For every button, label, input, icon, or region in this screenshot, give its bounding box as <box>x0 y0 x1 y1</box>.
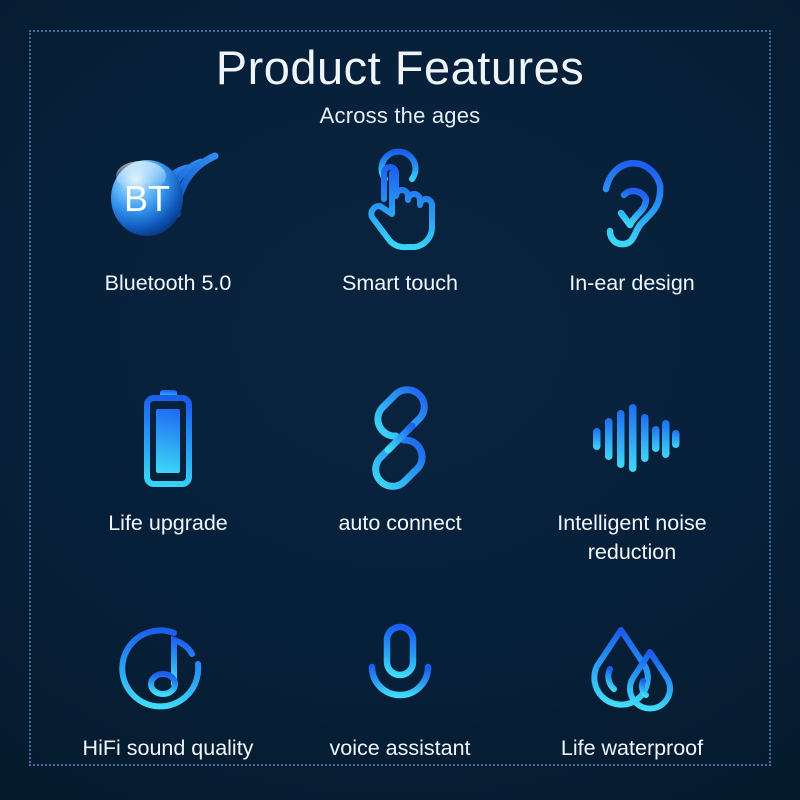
ear-outer-helix <box>606 163 660 244</box>
feature-cell-smart-touch: Smart touch <box>284 140 516 380</box>
feature-label: auto connect <box>338 509 461 538</box>
wave-bar <box>662 420 670 458</box>
wave-bar <box>617 410 625 468</box>
feature-cell-life-waterproof: Life waterproof <box>516 620 748 780</box>
feature-cell-auto-connect: auto connect <box>284 380 516 620</box>
sound-wave-bars-icon <box>589 402 675 474</box>
touch-hand-icon <box>352 143 448 253</box>
feature-row: BT Bluetooth 5.0 <box>52 140 748 380</box>
product-features-poster: Product Features Across the ages <box>0 0 800 800</box>
wave-bar <box>641 414 649 462</box>
ear-icon <box>590 143 674 253</box>
page-title: Product Features <box>0 42 800 94</box>
icon-box <box>352 140 448 255</box>
icon-box <box>350 380 450 495</box>
battery-charge-level <box>156 409 180 473</box>
icon-box: BT <box>103 140 233 255</box>
bluetooth-sphere-icon: BT <box>103 140 233 255</box>
microphone-icon <box>360 623 440 717</box>
wave-bar <box>629 404 637 472</box>
feature-label: Life upgrade <box>108 509 228 538</box>
chain-link-icon <box>350 388 450 488</box>
mic-capsule <box>387 627 413 675</box>
droplet-highlight-large <box>608 669 614 689</box>
feature-label: Intelligent noise reduction <box>532 509 732 566</box>
wave-bar <box>652 426 660 452</box>
mic-stand-arc <box>372 667 428 695</box>
icon-box <box>590 140 674 255</box>
feature-cell-in-ear-design: In-ear design <box>516 140 748 380</box>
page-subtitle: Across the ages <box>0 103 800 129</box>
bt-badge-text: BT <box>124 178 170 219</box>
feature-row: HiFi sound quality <box>52 620 748 780</box>
feature-grid: BT Bluetooth 5.0 <box>52 140 748 780</box>
chain-link-upper <box>378 389 424 435</box>
feature-cell-bluetooth: BT Bluetooth 5.0 <box>52 140 284 380</box>
feature-cell-hifi-sound: HiFi sound quality <box>52 620 284 780</box>
chain-link-lower <box>376 439 422 485</box>
feature-cell-voice-assistant: voice assistant <box>284 620 516 780</box>
water-droplets-icon <box>585 624 679 716</box>
feature-cell-noise-reduction: Intelligent noise reduction <box>516 380 748 620</box>
icon-box <box>360 620 440 720</box>
feature-row: Life upgrade <box>52 380 748 620</box>
wave-bar <box>593 428 601 450</box>
icon-box <box>135 380 201 495</box>
wave-bar-group <box>593 404 680 472</box>
feature-label: HiFi sound quality <box>83 734 254 763</box>
icon-box <box>585 620 679 720</box>
hand-outline <box>371 167 432 247</box>
note-stem-and-flag <box>174 640 192 684</box>
feature-label: Life waterproof <box>561 734 703 763</box>
music-note-circle-icon <box>122 624 214 716</box>
feature-label: Smart touch <box>342 269 458 298</box>
poster-header: Product Features Across the ages <box>0 42 800 129</box>
feature-label: voice assistant <box>329 734 470 763</box>
wave-bar <box>672 430 680 448</box>
icon-box <box>589 380 675 495</box>
wave-bar <box>605 418 613 460</box>
icon-box <box>122 620 214 720</box>
feature-label: In-ear design <box>569 269 695 298</box>
battery-icon <box>135 385 201 491</box>
feature-label: Bluetooth 5.0 <box>105 269 232 298</box>
feature-cell-life-upgrade: Life upgrade <box>52 380 284 620</box>
